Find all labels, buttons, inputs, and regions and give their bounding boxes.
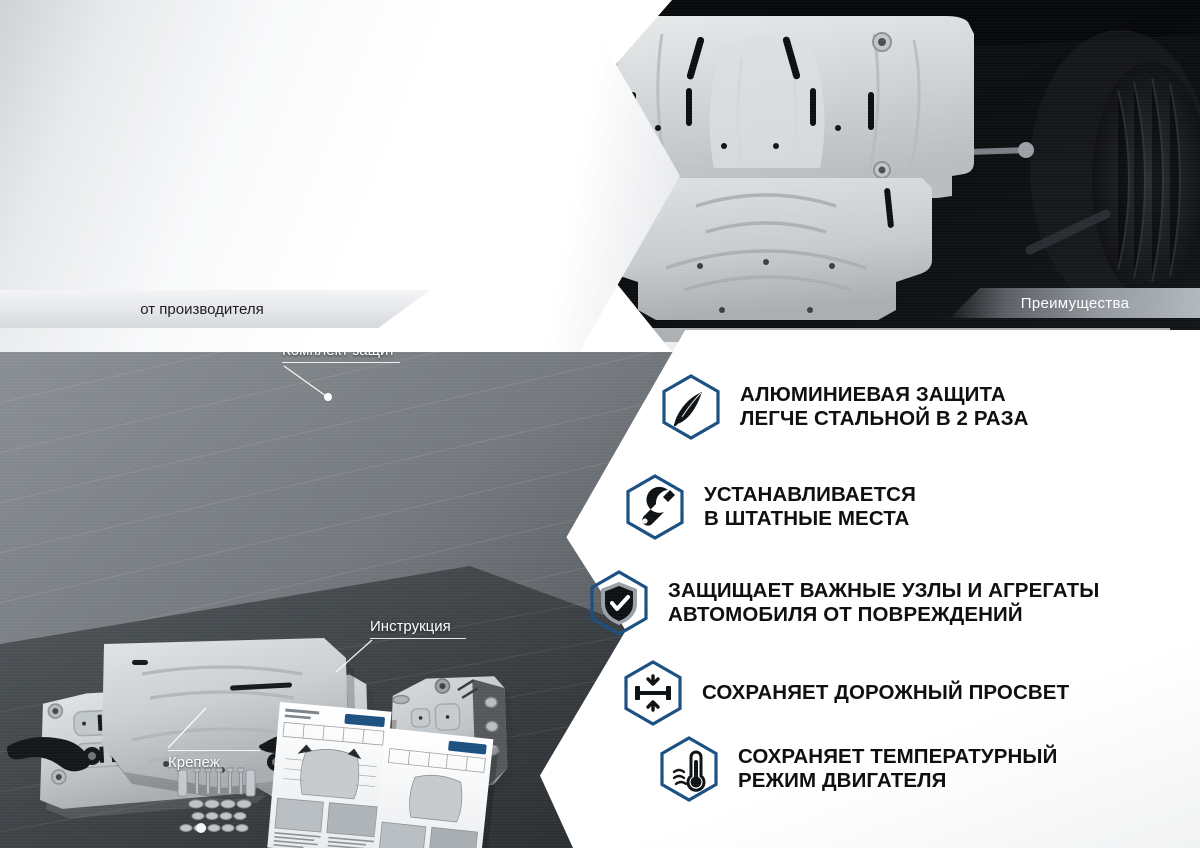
callout-fasteners-label: Крепеж [168,754,260,771]
wrench-icon [624,474,686,540]
advantage-text-clearance: СОХРАНЯЕТ ДОРОЖНЫЙ ПРОСВЕТ [702,681,1069,705]
callout-instruction-rule [370,638,466,639]
feather-icon [660,374,722,440]
advantage-item-weight: АЛЮМИНИЕВАЯ ЗАЩИТА ЛЕГЧЕ СТАЛЬНОЙ В 2 РА… [660,374,1029,440]
advantage-item-fitment: УСТАНАВЛИВАЕТСЯ В ШТАТНЫЕ МЕСТА [624,474,916,540]
thermometer-icon [658,736,720,802]
advantage-text-fitment: УСТАНАВЛИВАЕТСЯ В ШТАТНЫЕ МЕСТА [704,483,916,531]
advantages-list: АЛЮМИНИЕВАЯ ЗАЩИТА ЛЕГЧЕ СТАЛЬНОЙ В 2 РА… [600,352,1200,842]
callout-kit: Комплект защит [282,352,400,363]
brand-subtitle-label: от производителя [140,301,263,318]
advantage-text-temperature: СОХРАНЯЕТ ТЕМПЕРАТУРНЫЙ РЕЖИМ ДВИГАТЕЛЯ [738,745,1057,793]
tab-advantages-label: Преимущества [1021,295,1129,312]
callout-instruction-leader [332,638,376,680]
callout-fasteners-leader [166,706,212,752]
advantage-item-temperature: СОХРАНЯЕТ ТЕМПЕРАТУРНЫЙ РЕЖИМ ДВИГАТЕЛЯ [658,736,1057,802]
callout-instruction-label: Инструкция [370,618,466,635]
callout-instruction: Инструкция [370,618,466,639]
advantage-item-protection: ЗАЩИЩАЕТ ВАЖНЫЕ УЗЛЫ И АГРЕГАТЫ АВТОМОБИ… [588,570,1099,636]
product-infographic-poster: Преимущества [0,0,1200,848]
callout-kit-leader [282,364,342,406]
advantage-text-weight: АЛЮМИНИЕВАЯ ЗАЩИТА ЛЕГЧЕ СТАЛЬНОЙ В 2 РА… [740,383,1029,431]
shield-check-icon [588,570,650,636]
callout-kit-label: Комплект защит [282,352,400,359]
advantage-text-protection: ЗАЩИЩАЕТ ВАЖНЫЕ УЗЛЫ И АГРЕГАТЫ АВТОМОБИ… [668,579,1099,627]
callout-fasteners: Крепеж [168,750,260,771]
callout-kit-rule [282,362,400,363]
ground-clearance-icon [622,660,684,726]
advantage-item-clearance: СОХРАНЯЕТ ДОРОЖНЫЙ ПРОСВЕТ [622,660,1069,726]
tab-advantages[interactable]: Преимущества [950,288,1200,318]
brand-subtitle-bar: от производителя [0,290,430,328]
